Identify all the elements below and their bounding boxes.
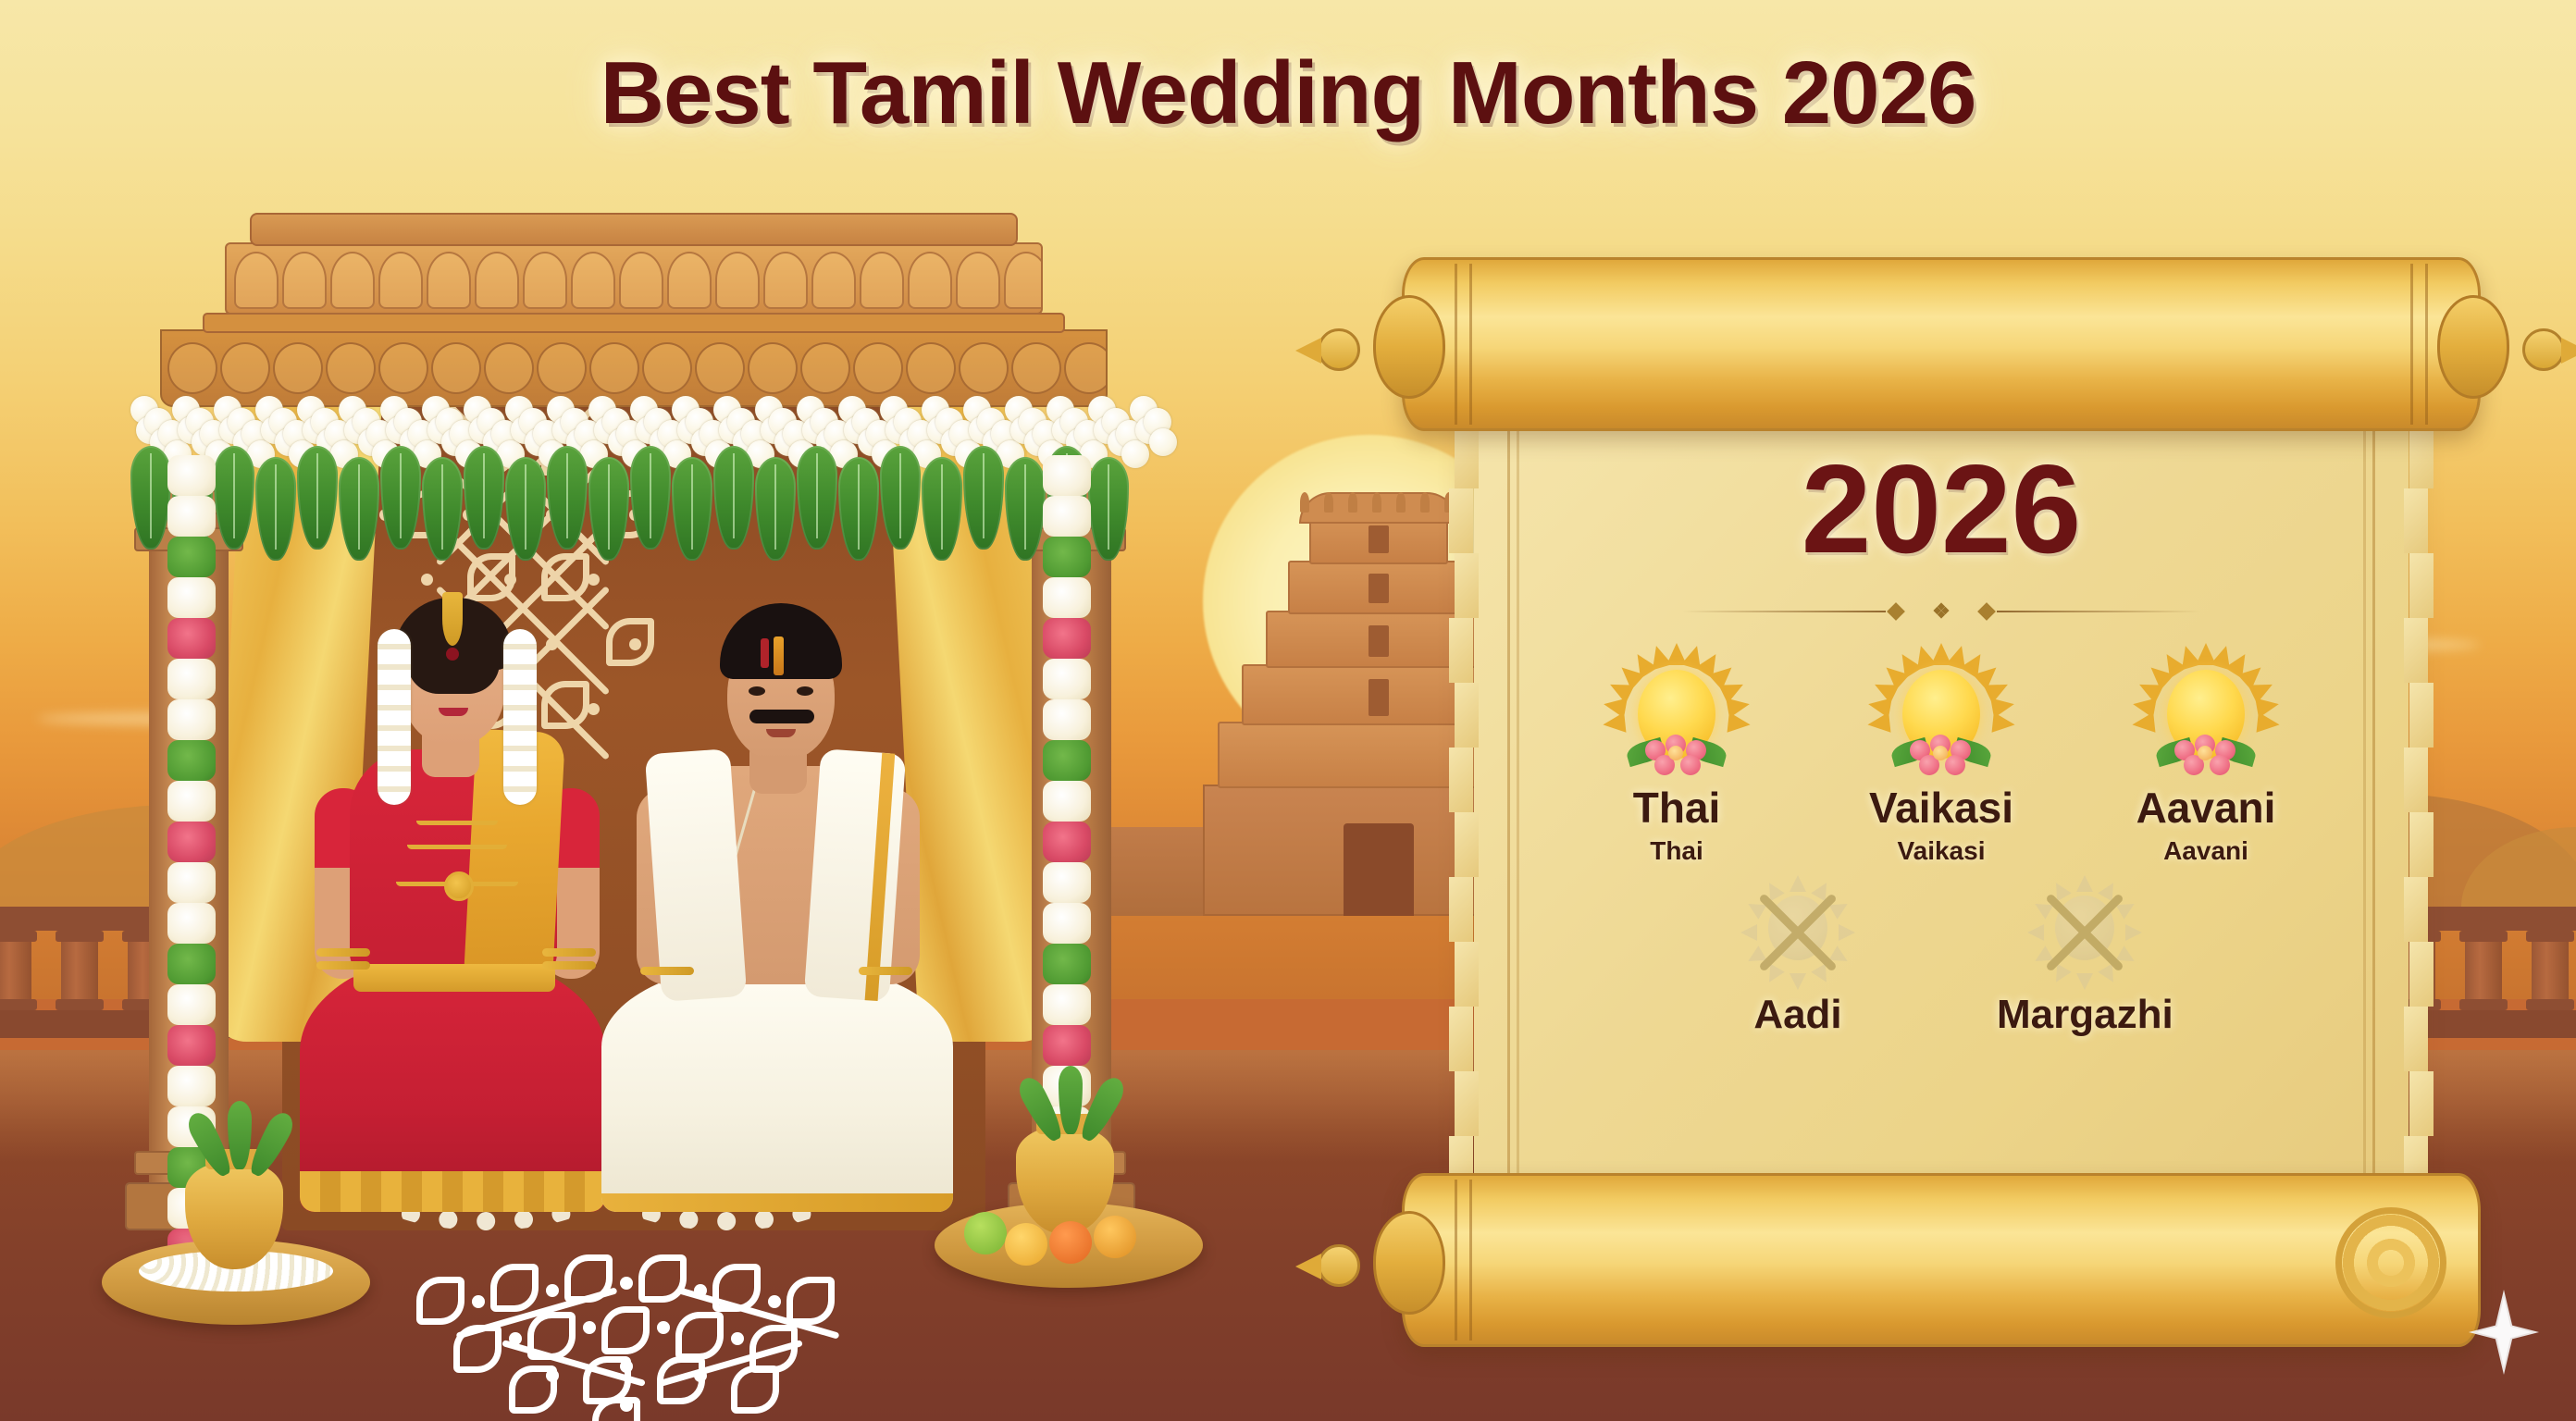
canopy-carved-band	[225, 242, 1043, 315]
month-card-vaikasi[interactable]: VaikasiVaikasi	[1853, 662, 2029, 866]
month-name: Vaikasi	[1853, 783, 2029, 833]
month-name: Aadi	[1710, 992, 1886, 1038]
fruit	[1049, 1221, 1092, 1264]
sun-flower-icon	[2141, 662, 2271, 772]
poster-canvas: Best Tamil Wedding Months 2026 2026 ❖ Th…	[0, 0, 2576, 1421]
roller-finial-right	[2500, 321, 2565, 373]
month-name: Thai	[1589, 783, 1765, 833]
ai-sparkle-icon	[2461, 1284, 2546, 1380]
roller-finial-left	[1318, 321, 1382, 373]
crossed-out-sun-icon	[1748, 886, 1848, 979]
bride-figure	[305, 583, 611, 1212]
roller-knob-left	[1373, 1211, 1445, 1315]
roller-knob-left	[1373, 295, 1445, 399]
scroll-roller-bottom	[1402, 1173, 2481, 1347]
crossed-out-sun-icon	[2035, 886, 2135, 979]
scroll-roller-top	[1402, 257, 2481, 431]
floor-kolam	[398, 1267, 916, 1421]
inauspicious-months-row: AadiMargazhi	[1710, 886, 2173, 1038]
fruit	[964, 1212, 1007, 1254]
page-title: Best Tamil Wedding Months 2026	[0, 43, 2576, 144]
groom-figure	[601, 564, 953, 1212]
month-name: Aavani	[2118, 783, 2294, 833]
month-card-aavani[interactable]: AavaniAavani	[2118, 662, 2294, 866]
roller-knob-right	[2437, 295, 2509, 399]
month-card-thai[interactable]: ThaiThai	[1589, 662, 1765, 866]
year-heading: 2026	[1802, 446, 2082, 572]
scroll-panel: 2026 ❖ ThaiThaiVaikasiVaikasiAavaniAavan…	[1346, 248, 2540, 1358]
scroll-content: 2026 ❖ ThaiThaiVaikasiVaikasiAavaniAavan…	[1520, 414, 2362, 1210]
fruit	[1094, 1216, 1136, 1258]
sun-flower-icon	[1876, 662, 2006, 772]
month-subtitle: Thai	[1589, 836, 1765, 866]
month-subtitle: Aavani	[2118, 836, 2294, 866]
auspicious-months-row: ThaiThaiVaikasiVaikasiAavaniAavani	[1589, 662, 2294, 866]
month-card-aadi[interactable]: Aadi	[1710, 886, 1886, 1038]
canopy-top	[250, 213, 1018, 246]
roller-finial-left	[1318, 1237, 1382, 1289]
month-name: Margazhi	[1997, 992, 2173, 1038]
wedding-couple	[305, 546, 953, 1212]
decorative-divider: ❖	[1682, 599, 2200, 624]
roller-spiral-end	[2335, 1207, 2446, 1318]
divider-ornament-icon: ❖	[1919, 599, 1963, 624]
canopy-lip	[203, 313, 1065, 333]
fruit	[1005, 1223, 1047, 1266]
sun-flower-icon	[1612, 662, 1741, 772]
month-card-margazhi[interactable]: Margazhi	[1997, 886, 2173, 1038]
month-subtitle: Vaikasi	[1853, 836, 2029, 866]
